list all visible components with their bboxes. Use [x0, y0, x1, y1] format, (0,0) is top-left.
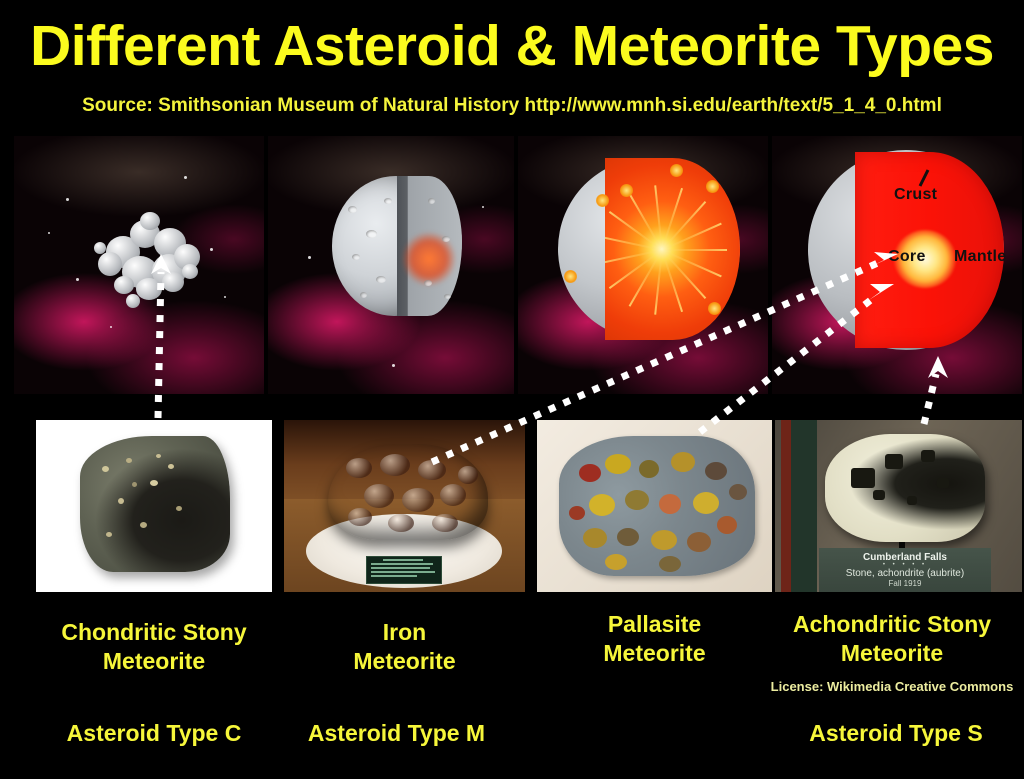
surface-vent: [620, 184, 633, 197]
caption-achondrite: Achondritic Stony Meteorite: [762, 610, 1022, 668]
achondrite-photo: Cumberland Falls • • • • • Stone, achond…: [775, 420, 1022, 592]
asteroid-panel-partially-heated: [268, 136, 514, 394]
surface-vent: [706, 180, 719, 193]
iron-meteorite-specimen: [328, 444, 488, 540]
asteroid-type-s: Asteroid Type S: [770, 719, 1022, 747]
surface-vent: [708, 302, 721, 315]
caption-iron: Iron Meteorite: [284, 618, 525, 676]
asteroid-panel-rubble-pile: [14, 136, 264, 394]
caption-chondrite: Chondritic Stony Meteorite: [36, 618, 272, 676]
caption-pallasite: Pallasite Meteorite: [537, 610, 772, 668]
pallasite-specimen: [559, 436, 755, 576]
chondrite-photo: [36, 420, 272, 592]
caption-line-1: Pallasite: [537, 610, 772, 639]
museum-card: Cumberland Falls • • • • • Stone, achond…: [819, 548, 991, 592]
exhibit-placard: [366, 556, 442, 584]
asteroid-type-m: Asteroid Type M: [276, 719, 517, 747]
molten-asteroid-body: [558, 158, 740, 340]
rubble-pile-body: [92, 210, 212, 306]
chondrite-specimen: [80, 436, 230, 572]
pallasite-photo: [537, 420, 772, 592]
license-note: License: Wikimedia Creative Commons: [762, 679, 1022, 694]
exhibit-wall-panel: [791, 420, 817, 592]
asteroid-type-c: Asteroid Type C: [36, 719, 272, 747]
crust-label: Crust: [894, 186, 937, 204]
mantle-label: Mantle: [954, 248, 1006, 266]
slide-canvas: Different Asteroid & Meteorite Types Sou…: [0, 0, 1024, 779]
museum-card-subtitle: Stone, achondrite (aubrite): [819, 568, 991, 579]
surface-vent: [670, 164, 683, 177]
exhibit-wall-accent: [781, 420, 791, 592]
partially-heated-asteroid-body: [332, 176, 462, 316]
achondrite-specimen: [825, 434, 985, 542]
caption-line-1: Chondritic Stony: [36, 618, 272, 647]
caption-line-2: Meteorite: [762, 639, 1022, 668]
caption-line-2: Meteorite: [284, 647, 525, 676]
surface-vent: [564, 270, 577, 283]
caption-line-2: Meteorite: [537, 639, 772, 668]
surface-vent: [596, 194, 609, 207]
asteroid-panel-differentiated: Crust Core Mantle: [772, 136, 1022, 394]
source-credit: Source: Smithsonian Museum of Natural Hi…: [0, 94, 1024, 118]
museum-card-detail: Fall 1919: [819, 579, 991, 588]
caption-line-1: Iron: [284, 618, 525, 647]
asteroid-panel-molten: [518, 136, 768, 394]
core-label: Core: [888, 248, 926, 266]
iron-meteorite-photo: [284, 420, 525, 592]
page-title: Different Asteroid & Meteorite Types: [0, 14, 1024, 78]
caption-line-2: Meteorite: [36, 647, 272, 676]
caption-line-1: Achondritic Stony: [762, 610, 1022, 639]
